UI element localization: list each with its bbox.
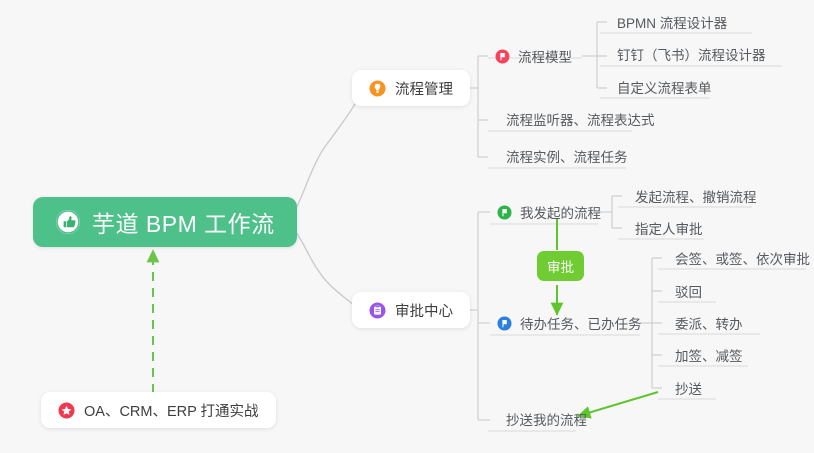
node-label: 自定义流程表单 [617,77,712,97]
clipboard-icon [369,302,386,319]
node-label: 钉钉（飞书）流程设计器 [617,44,766,64]
node-custom-process-form[interactable]: 自定义流程表单 [600,73,721,101]
branch-process-management[interactable]: 流程管理 [352,70,470,106]
node-label: 待办任务、已办任务 [520,313,642,333]
node-label: 抄送 [675,378,702,398]
node-label: 我发起的流程 [520,202,601,222]
node-delegate-transfer[interactable]: 委派、转办 [658,309,752,337]
mindmap-canvas: 芋道 BPM 工作流 流程管理 流程模型 流程监听器、流程表达式 流程实例、流程… [0,0,814,453]
note-integration[interactable]: OA、CRM、ERP 打通实战 [41,392,276,428]
note-label: OA、CRM、ERP 打通实战 [84,400,259,421]
star-icon [58,402,75,419]
node-process-model[interactable]: 流程模型 [489,42,581,70]
node-label: 指定人审批 [635,218,703,238]
flag-icon [497,205,512,220]
node-label: BPMN 流程设计器 [617,12,727,32]
node-dingtalk-feishu-designer[interactable]: 钉钉（飞书）流程设计器 [600,40,775,68]
branch-label: 审批中心 [395,300,453,321]
node-bpmn-designer[interactable]: BPMN 流程设计器 [600,8,736,36]
node-label: 流程实例、流程任务 [506,146,628,166]
node-reject[interactable]: 驳回 [658,277,711,305]
flag-icon [497,316,512,331]
node-label: 发起流程、撤销流程 [635,186,757,206]
root-label: 芋道 BPM 工作流 [92,205,275,239]
lightbulb-icon [369,80,386,97]
node-cc-to-me-process[interactable]: 抄送我的流程 [489,405,596,433]
thumbs-up-icon [55,209,81,235]
branch-approval-center[interactable]: 审批中心 [352,292,470,328]
branch-label: 流程管理 [395,78,453,99]
node-start-cancel-process[interactable]: 发起流程、撤销流程 [618,182,766,210]
node-label: 会签、或签、依次审批 [675,248,810,268]
tag-label: 审批 [547,256,574,276]
tag-approval[interactable]: 审批 [537,251,584,281]
node-label: 流程模型 [518,46,572,66]
node-label: 驳回 [675,281,702,301]
node-my-initiated-process[interactable]: 我发起的流程 [491,198,610,226]
node-process-listener-expression[interactable]: 流程监听器、流程表达式 [489,105,664,133]
node-todo-done-tasks[interactable]: 待办任务、已办任务 [491,309,651,337]
node-label: 委派、转办 [675,313,743,333]
node-cc[interactable]: 抄送 [658,374,711,402]
root-node[interactable]: 芋道 BPM 工作流 [33,197,297,247]
node-label: 抄送我的流程 [506,409,587,429]
node-label: 流程监听器、流程表达式 [506,109,655,129]
node-add-remove-sign[interactable]: 加签、减签 [658,341,752,369]
flag-icon [495,49,510,64]
node-label: 加签、减签 [675,345,743,365]
node-assignee-approval[interactable]: 指定人审批 [618,214,712,242]
node-process-instance-task[interactable]: 流程实例、流程任务 [489,142,637,170]
node-countersign-orsign-sequential[interactable]: 会签、或签、依次审批 [658,244,814,272]
